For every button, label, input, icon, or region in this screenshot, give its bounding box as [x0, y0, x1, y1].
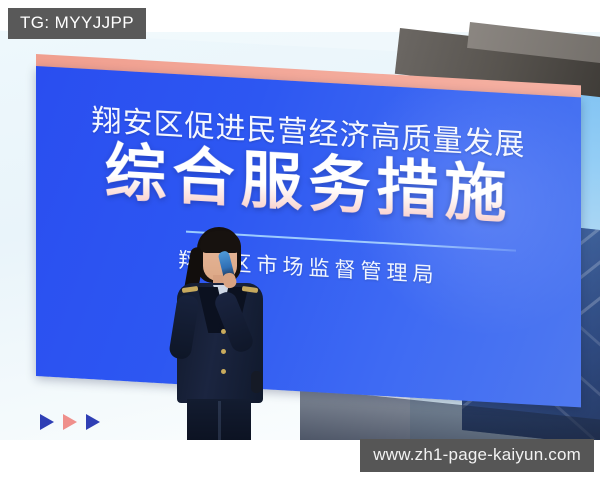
- speaker-button-2: [221, 349, 226, 354]
- site-watermark-badge: www.zh1-page-kaiyun.com: [360, 439, 594, 472]
- speaker-hair-front: [200, 231, 241, 253]
- speaker-leg-separation: [218, 401, 221, 443]
- tg-watermark-badge: TG: MYYJJPP: [8, 8, 146, 39]
- speaker-button-3: [221, 369, 226, 374]
- screenshot-root: 翔安区促进民营经济高质量发展 综合服务措施 翔安区市场监督管理局: [0, 0, 600, 480]
- speaker-hand-lowered: [251, 371, 262, 393]
- event-poster: 翔安区促进民营经济高质量发展 综合服务措施 翔安区市场监督管理局: [36, 54, 581, 415]
- poster-organization-name: 翔安区市场监督管理局: [36, 236, 581, 297]
- stage-scene-photo: 翔安区促进民营经济高质量发展 综合服务措施 翔安区市场监督管理局: [0, 0, 600, 443]
- arrow-triangle-3-icon: [86, 414, 100, 430]
- speaker-person: [163, 225, 281, 443]
- arrow-triangle-2-icon: [63, 414, 77, 430]
- decorative-arrow-group: [40, 414, 100, 430]
- arrow-triangle-1-icon: [40, 414, 54, 430]
- poster-text-block: 翔安区促进民营经济高质量发展 综合服务措施 翔安区市场监督管理局: [36, 54, 581, 395]
